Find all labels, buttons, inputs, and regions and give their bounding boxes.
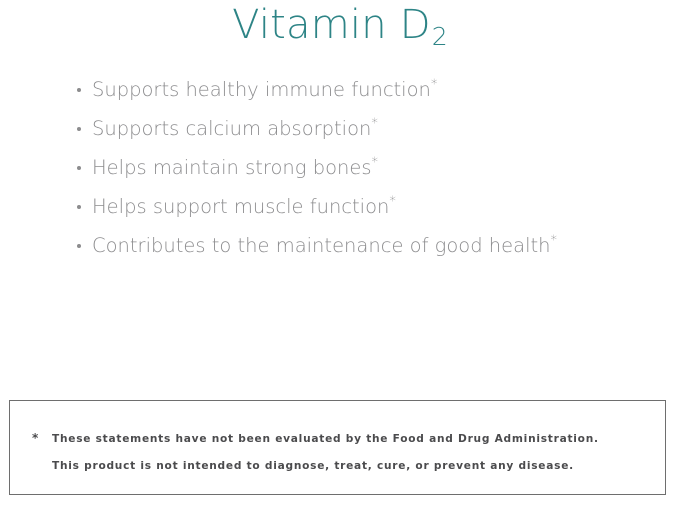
disclaimer-line-2: This product is not intended to diagnose… bbox=[52, 460, 574, 472]
footnote-marker: * bbox=[32, 431, 52, 445]
list-item-label: Helps maintain strong bones bbox=[92, 156, 372, 179]
bullet-dot-icon bbox=[77, 166, 81, 170]
page-title-text: Vitamin D bbox=[232, 2, 431, 48]
list-item: Helps maintain strong bones* bbox=[0, 154, 557, 193]
footnote-marker: * bbox=[389, 195, 396, 210]
list-item-label: Supports healthy immune function bbox=[92, 78, 431, 101]
list-item: Supports calcium absorption* bbox=[0, 115, 557, 154]
disclaimer-line-1: *These statements have not been evaluate… bbox=[32, 431, 599, 445]
footnote-marker: * bbox=[372, 156, 379, 171]
disclaimer-line-1-text: These statements have not been evaluated… bbox=[52, 433, 599, 445]
footnote-marker: * bbox=[431, 78, 438, 93]
bullet-dot-icon bbox=[77, 244, 81, 248]
disclaimer-box: *These statements have not been evaluate… bbox=[9, 400, 666, 495]
benefits-list: Supports healthy immune function* Suppor… bbox=[0, 76, 557, 271]
bullet-dot-icon bbox=[77, 127, 81, 131]
list-item: Supports healthy immune function* bbox=[0, 76, 557, 115]
page-title: Vitamin D2 bbox=[0, 2, 679, 53]
list-item-label: Supports calcium absorption bbox=[92, 117, 371, 140]
footnote-marker: * bbox=[551, 234, 558, 249]
bullet-dot-icon bbox=[77, 88, 81, 92]
bullet-dot-icon bbox=[77, 205, 81, 209]
list-item: Contributes to the maintenance of good h… bbox=[0, 232, 557, 271]
footnote-marker: * bbox=[371, 117, 378, 132]
list-item: Helps support muscle function* bbox=[0, 193, 557, 232]
list-item-label: Helps support muscle function bbox=[92, 195, 389, 218]
page-title-subscript: 2 bbox=[432, 22, 448, 51]
list-item-label: Contributes to the maintenance of good h… bbox=[92, 234, 551, 257]
